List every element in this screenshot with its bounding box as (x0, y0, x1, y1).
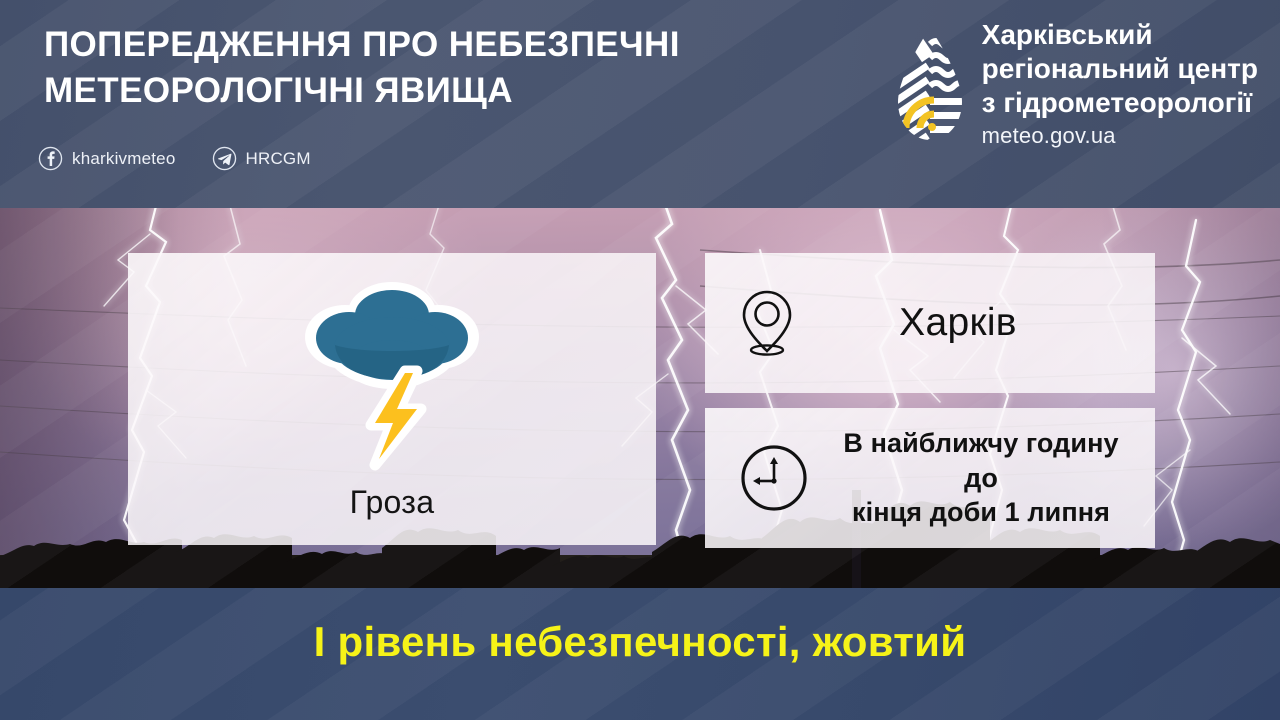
page-title: ПОПЕРЕДЖЕННЯ ПРО НЕБЕЗПЕЧНІ МЕТЕОРОЛОГІЧ… (44, 22, 814, 113)
time-label-line2: кінця доби 1 липня (852, 497, 1110, 527)
time-label: В найближчу годину до кінця доби 1 липня (833, 426, 1137, 530)
page-title-line2: МЕТЕОРОЛОГІЧНІ ЯВИЩА (44, 68, 814, 114)
time-card: В найближчу годину до кінця доби 1 липня (705, 408, 1155, 548)
phenomenon-label: Гроза (128, 484, 656, 521)
page-title-line1: ПОПЕРЕДЖЕННЯ ПРО НЕБЕЗПЕЧНІ (44, 22, 814, 68)
facebook-icon (38, 146, 63, 171)
organization-logo: Харківський регіональний центр з гідроме… (892, 18, 1258, 149)
logo-line3: з гідрометеорології (982, 86, 1258, 120)
location-label: Харків (819, 301, 1137, 345)
water-drop-logo-icon (892, 26, 968, 144)
social-links: kharkivmeteo HRCGM (38, 146, 311, 171)
thunderstorm-cloud-lightning-icon (287, 275, 497, 475)
logo-line2: регіональний центр (982, 52, 1258, 86)
social-link-telegram[interactable]: HRCGM (212, 146, 311, 171)
location-card: Харків (705, 253, 1155, 393)
danger-level-text: І рівень небезпечності, жовтий (0, 618, 1280, 666)
logo-website-url: meteo.gov.ua (982, 122, 1258, 150)
social-link-facebook[interactable]: kharkivmeteo (38, 146, 176, 171)
telegram-icon (212, 146, 237, 171)
time-label-line1: В найближчу годину до (843, 428, 1118, 493)
danger-level-banner: І рівень небезпечності, жовтий (0, 588, 1280, 720)
weather-warning-poster: ПОПЕРЕДЖЕННЯ ПРО НЕБЕЗПЕЧНІ МЕТЕОРОЛОГІЧ… (0, 0, 1280, 720)
social-label-telegram: HRCGM (246, 149, 311, 169)
social-label-facebook: kharkivmeteo (72, 149, 176, 169)
clock-icon (739, 443, 809, 513)
phenomenon-card: Гроза (128, 253, 656, 545)
logo-line1: Харківський (982, 18, 1258, 52)
header-bar: ПОПЕРЕДЖЕННЯ ПРО НЕБЕЗПЕЧНІ МЕТЕОРОЛОГІЧ… (0, 0, 1280, 208)
map-pin-icon (739, 289, 795, 357)
